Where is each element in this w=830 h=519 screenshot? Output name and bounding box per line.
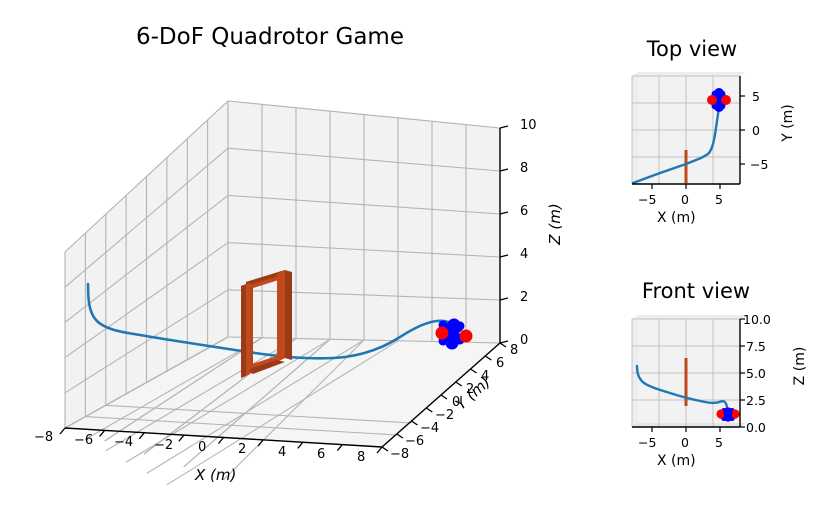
top-view-y-tick-0: −5	[750, 157, 768, 172]
y-tick-3d-3: −2	[435, 408, 454, 423]
front-view-x-ticks	[652, 427, 720, 432]
y-tick-3d-8: 8	[510, 343, 518, 358]
front-view-x-axis-label: X (m)	[657, 453, 696, 469]
top-view-y-tick-2: 5	[752, 89, 760, 104]
front-view-z-tick-3: 7.5	[746, 339, 766, 354]
z-tick-3d-0: 0	[520, 333, 528, 348]
front-view-x-tick-1: 0	[681, 435, 689, 450]
y-tick-3d-2: −4	[420, 421, 439, 436]
y-tick-3d-1: −6	[405, 434, 424, 449]
x-tick-3d-5: 2	[238, 442, 246, 457]
z-tick-3d-1: 2	[520, 290, 528, 305]
front-view-x-tick-0: −5	[638, 435, 656, 450]
top-view-y-ticks	[740, 96, 745, 164]
front-view-z-tick-4: 10.0	[743, 312, 771, 327]
top-view-panel: Top view	[600, 20, 830, 260]
y-tick-3d-7: 6	[496, 356, 504, 371]
x-tick-3d-4: 0	[198, 440, 206, 455]
front-view-panel: Front view	[600, 262, 830, 519]
x-axis-label-3d: X (m)	[195, 466, 236, 484]
y-tick-3d-0: −8	[390, 447, 409, 462]
z-tick-3d-3: 6	[520, 204, 528, 219]
x-tick-3d-1: −6	[74, 433, 93, 448]
z-axis-label-3d: Z (m)	[546, 199, 564, 249]
z-tick-3d-4: 8	[520, 161, 528, 176]
front-view-z-axis-label: Z (m)	[792, 341, 808, 391]
top-view-y-tick-1: 0	[752, 123, 760, 138]
top-view-x-ticks	[652, 184, 720, 189]
front-view-z-ticks	[740, 319, 745, 427]
front-view-z-tick-2: 5.0	[746, 366, 766, 381]
x-tick-3d-8: 8	[357, 450, 365, 465]
x-tick-3d-3: −2	[154, 438, 173, 453]
z-tick-3d-2: 4	[520, 247, 528, 262]
front-view-z-tick-0: 0.0	[746, 420, 766, 435]
z-axis-ticks-3d	[500, 126, 508, 343]
front-view-x-tick-2: 5	[715, 435, 723, 450]
x-tick-3d-2: −4	[114, 435, 133, 450]
x-tick-3d-6: 4	[278, 445, 286, 460]
top-view-x-tick-0: −5	[638, 192, 656, 207]
front-view-z-tick-1: 2.5	[746, 393, 766, 408]
x-tick-3d-7: 6	[317, 447, 325, 462]
top-view-x-axis-label: X (m)	[657, 210, 696, 226]
quadrotor-game-figure: 6-DoF Quadrotor Game	[0, 0, 830, 519]
x-tick-3d-0: −8	[34, 430, 53, 445]
main-3d-plot: 6-DoF Quadrotor Game	[0, 0, 600, 519]
top-view-x-tick-2: 5	[715, 192, 723, 207]
top-view-y-axis-label: Y (m)	[780, 98, 796, 148]
z-tick-3d-5: 10	[520, 118, 537, 133]
top-view-x-tick-1: 0	[681, 192, 689, 207]
